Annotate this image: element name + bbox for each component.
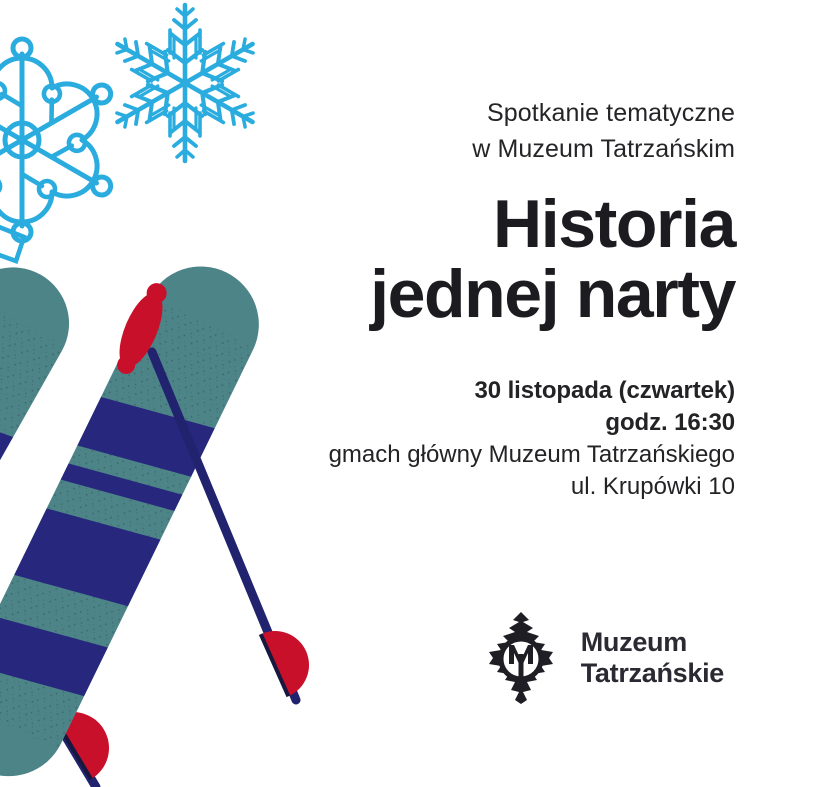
ski-pole-left — [0, 560, 122, 787]
event-address: ul. Krupówki 10 — [205, 471, 735, 503]
logo-name-line-1: Muzeum — [581, 627, 724, 658]
title-line-2: jednej narty — [205, 259, 735, 329]
event-date: 30 listopada (czwartek) — [205, 375, 735, 407]
museum-logo: Muzeum Tatrzańskie — [479, 612, 724, 704]
ski-back — [0, 245, 98, 746]
logo-name-line-2: Tatrzańskie — [581, 658, 724, 689]
snowflake-dotted-left — [0, 39, 126, 241]
poster-kicker: Spotkanie tematyczne w Muzeum Tatrzański… — [205, 96, 735, 167]
kicker-line-1: Spotkanie tematyczne — [205, 96, 735, 132]
snowflake-lower-left — [0, 205, 24, 345]
event-time: godz. 16:30 — [205, 407, 735, 439]
event-details: 30 listopada (czwartek) godz. 16:30 gmac… — [205, 375, 735, 504]
poster-text-column: Spotkanie tematyczne w Muzeum Tatrzański… — [205, 96, 735, 503]
event-venue: gmach główny Muzeum Tatrzańskiego — [205, 439, 735, 471]
title-line-1: Historia — [205, 189, 735, 259]
museum-logo-text: Muzeum Tatrzańskie — [581, 627, 724, 690]
poster-canvas: Spotkanie tematyczne w Muzeum Tatrzański… — [0, 0, 820, 787]
kicker-line-2: w Muzeum Tatrzańskim — [205, 132, 735, 168]
page-title: Historia jednej narty — [205, 189, 735, 329]
muzeum-tatrzanskie-parzenica-mark — [479, 612, 563, 704]
